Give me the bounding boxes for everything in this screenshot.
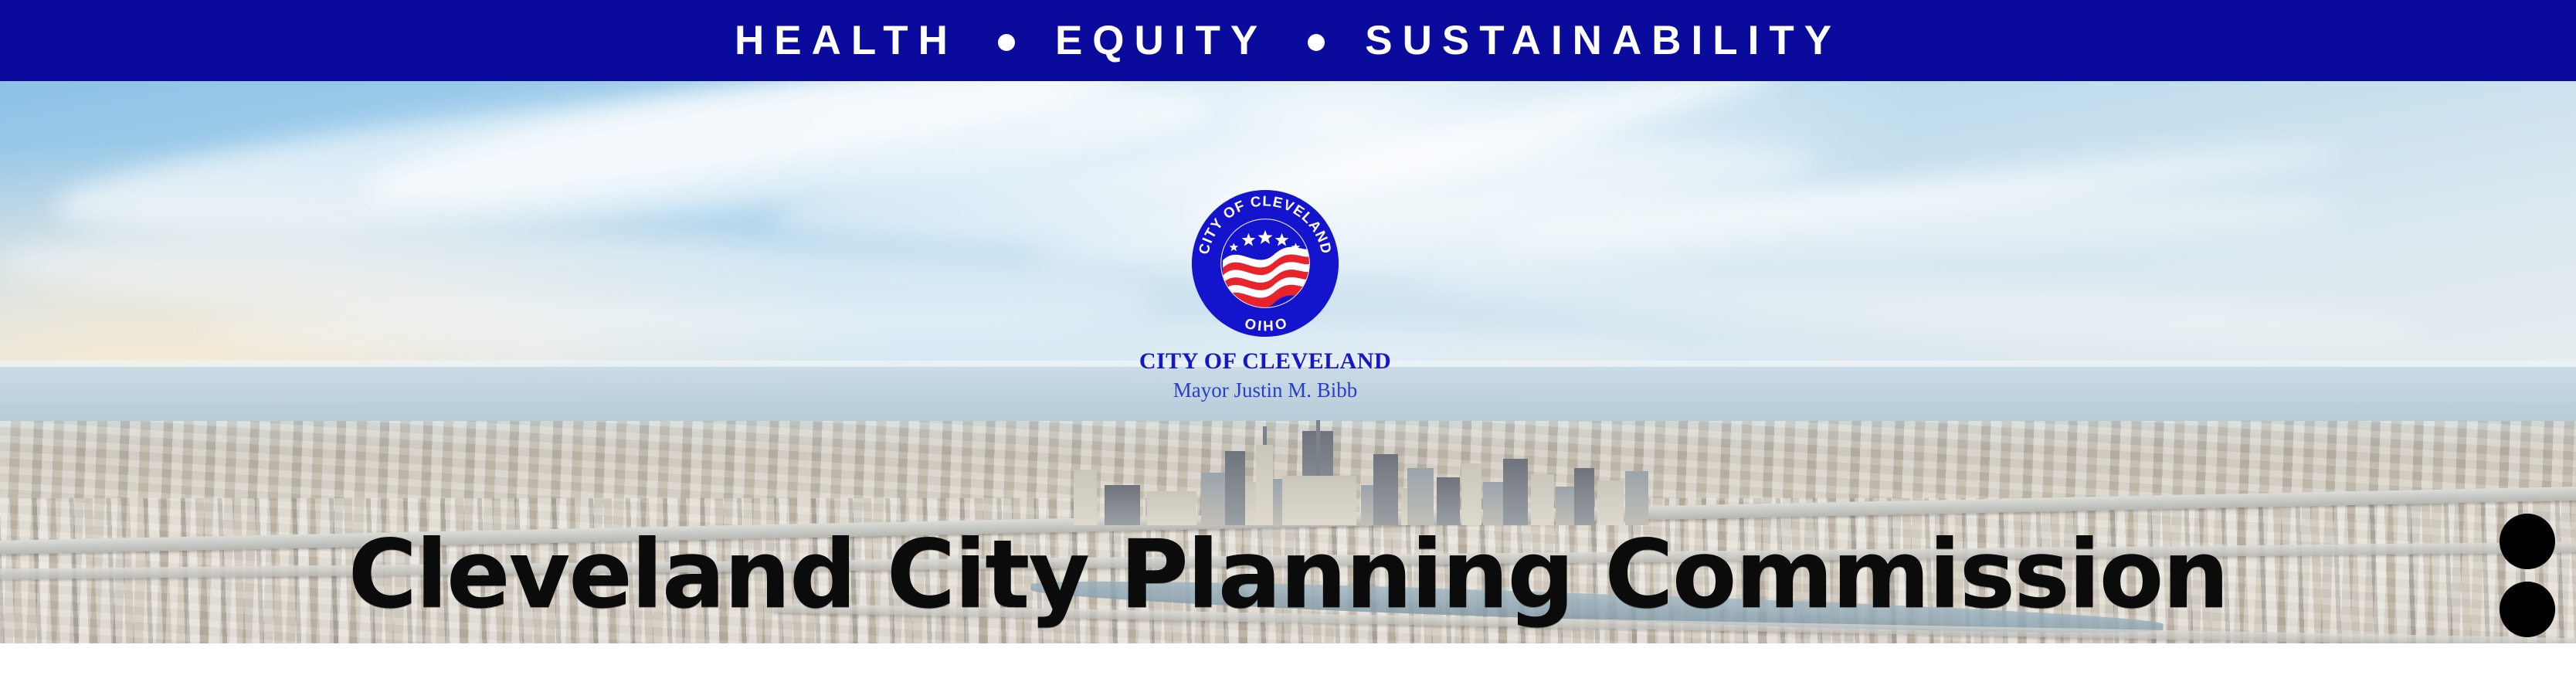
tagline-banner: HEALTH EQUITY SUSTAINABILITY bbox=[0, 0, 2576, 81]
social-links-rail bbox=[2500, 514, 2557, 643]
tagline-word-health: HEALTH bbox=[735, 20, 958, 61]
downtown-skyline bbox=[1074, 421, 1661, 525]
youtube-icon[interactable] bbox=[2500, 514, 2555, 569]
brand-lockup: CITY OF CLEVELAND Mayor Justin M. Bibb bbox=[1075, 348, 1455, 402]
tagline-word-equity: EQUITY bbox=[1055, 20, 1268, 61]
brand-mayor-name: Mayor Justin M. Bibb bbox=[1075, 378, 1455, 402]
instagram-icon[interactable] bbox=[2500, 582, 2555, 637]
bullet-dot-icon bbox=[1308, 34, 1325, 51]
brand-city-name: CITY OF CLEVELAND bbox=[1075, 348, 1455, 375]
bullet-dot-icon bbox=[998, 34, 1015, 51]
page-root: HEALTH EQUITY SUSTAINABILITY bbox=[0, 0, 2576, 682]
tagline-word-sustainability: SUSTAINABILITY bbox=[1365, 20, 1841, 61]
hero-photo: CITY OF CLEVELAND OHIO bbox=[0, 81, 2576, 643]
city-of-cleveland-ohio-seal-icon: CITY OF CLEVELAND OHIO bbox=[1190, 188, 1341, 339]
page-footer-spacer bbox=[0, 643, 2576, 682]
page-title: Cleveland City Planning Commission bbox=[0, 528, 2576, 622]
